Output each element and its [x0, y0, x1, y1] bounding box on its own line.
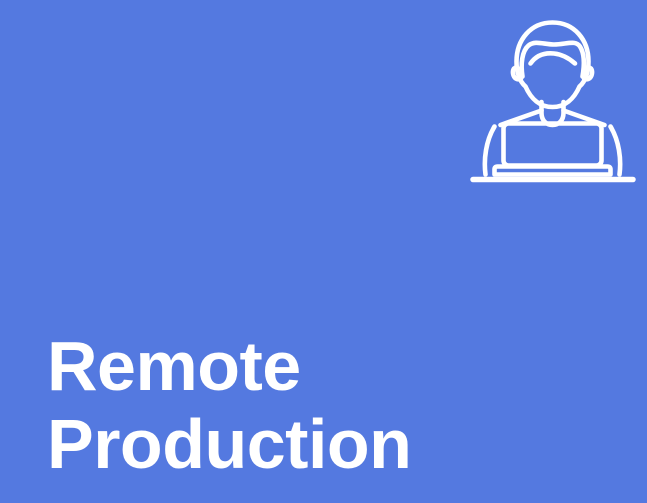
hair-fringe [531, 53, 576, 63]
headline-line-2: Production [47, 405, 607, 483]
person-at-laptop-icon [470, 14, 636, 186]
remote-production-card: Remote Production [0, 0, 647, 503]
laptop-base [495, 167, 611, 175]
headline-line-1: Remote [47, 327, 607, 405]
head-outline [517, 23, 589, 108]
page-title: Remote Production [47, 327, 607, 483]
laptop-screen [504, 124, 602, 166]
